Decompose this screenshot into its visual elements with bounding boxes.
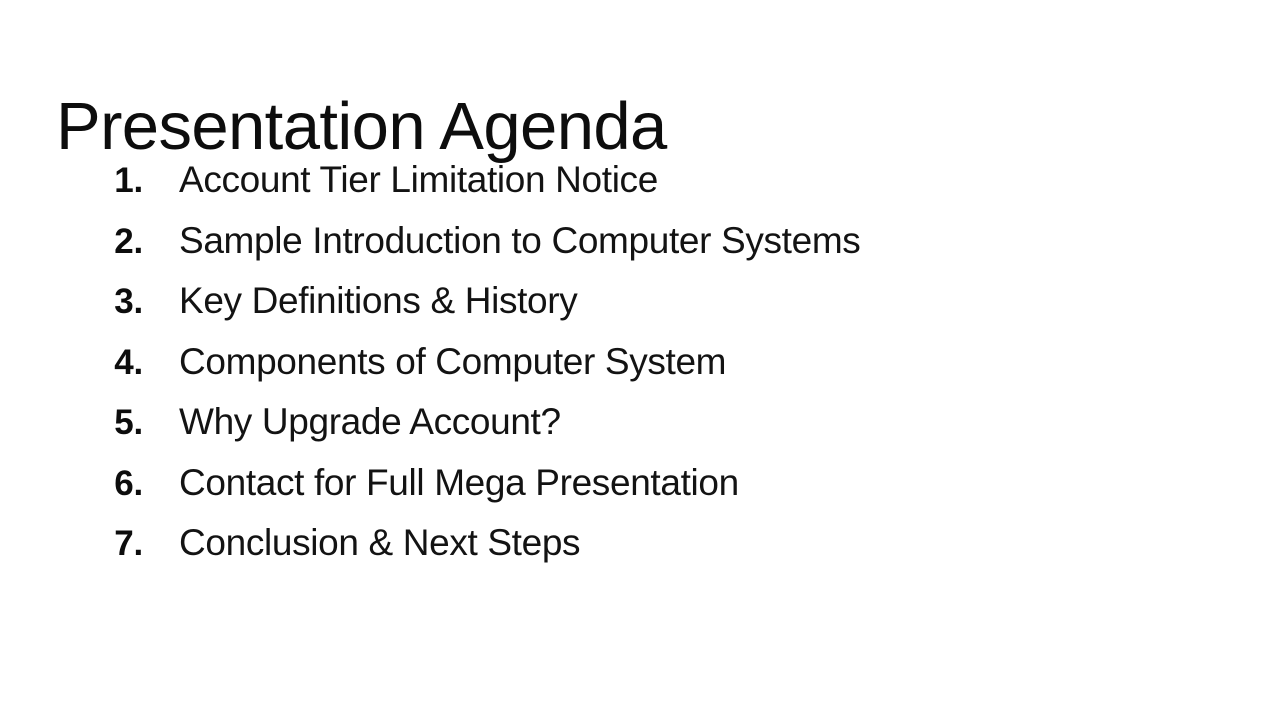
list-item[interactable]: 7. Conclusion & Next Steps — [96, 523, 1196, 584]
list-item-label: Contact for Full Mega Presentation — [179, 463, 1196, 503]
list-item[interactable]: 1. Account Tier Limitation Notice — [96, 160, 1196, 221]
list-item-number: 3. — [96, 282, 143, 322]
list-item-label: Key Definitions & History — [179, 281, 1196, 321]
list-item-number: 1. — [96, 161, 143, 201]
list-item-label: Why Upgrade Account? — [179, 402, 1196, 442]
list-item-label: Conclusion & Next Steps — [179, 523, 1196, 563]
page-title: Presentation Agenda — [56, 93, 667, 160]
list-item-label: Components of Computer System — [179, 342, 1196, 382]
list-item-number: 2. — [96, 222, 143, 262]
presentation-slide: Presentation Agenda 1. Account Tier Limi… — [0, 0, 1280, 720]
list-item-number: 7. — [96, 524, 143, 564]
list-item[interactable]: 6. Contact for Full Mega Presentation — [96, 463, 1196, 524]
list-item[interactable]: 5. Why Upgrade Account? — [96, 402, 1196, 463]
list-item[interactable]: 4. Components of Computer System — [96, 342, 1196, 403]
list-item-number: 4. — [96, 343, 143, 383]
list-item-number: 5. — [96, 403, 143, 443]
list-item[interactable]: 3. Key Definitions & History — [96, 281, 1196, 342]
list-item-label: Sample Introduction to Computer Systems — [179, 221, 1196, 261]
list-item-number: 6. — [96, 464, 143, 504]
list-item[interactable]: 2. Sample Introduction to Computer Syste… — [96, 221, 1196, 282]
list-item-label: Account Tier Limitation Notice — [179, 160, 1196, 200]
agenda-list: 1. Account Tier Limitation Notice 2. Sam… — [56, 160, 1196, 584]
